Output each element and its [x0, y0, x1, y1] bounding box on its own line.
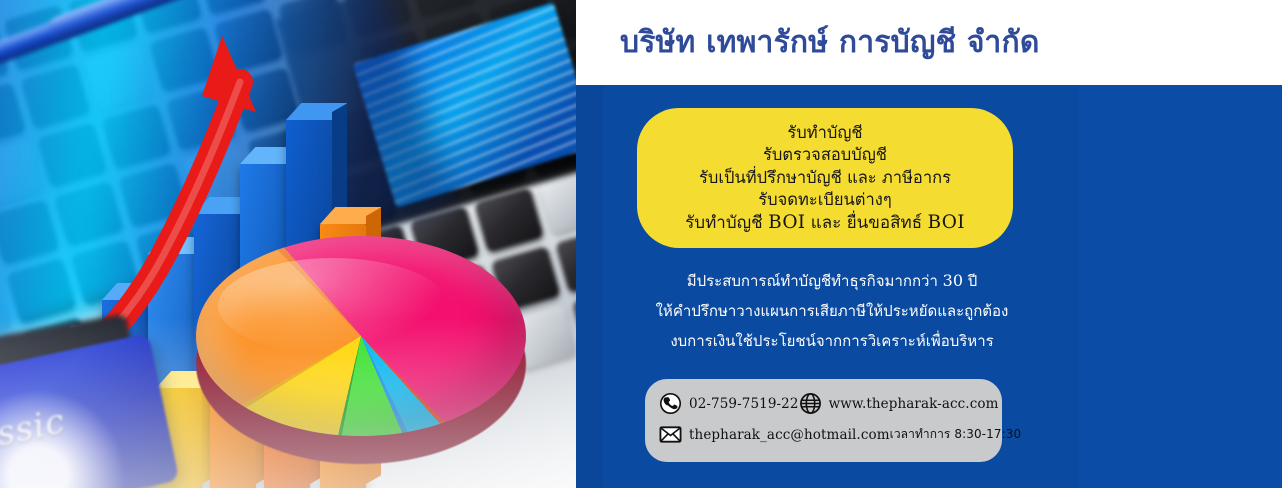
- phone-icon: [659, 392, 682, 415]
- service-line: รับทำบัญชี: [787, 122, 862, 145]
- boi-label: BOI: [768, 212, 805, 233]
- website-contact[interactable]: www.thepharak-acc.com: [799, 392, 999, 415]
- hours-text: เวลาทำการ 8:30-17:30: [890, 425, 1022, 444]
- experience-years: 30: [943, 271, 963, 290]
- envelope-icon: [659, 423, 682, 446]
- pie-chart-3d: [196, 222, 526, 472]
- contact-info-box: 02-759-7519-22 www.thepharak-acc.com the…: [645, 379, 1002, 462]
- contact-row-bottom: thepharak_acc@hotmail.com เวลาทำการ 8:30…: [659, 419, 988, 450]
- pie-gloss: [218, 258, 448, 354]
- services-highlight-box: รับทำบัญชี รับตรวจสอบบัญชี รับเป็นที่ปรึ…: [637, 108, 1013, 248]
- boi-mid: และ ยื่นขอสิทธ์: [805, 213, 927, 233]
- phone-contact[interactable]: 02-759-7519-22: [659, 392, 799, 415]
- blue-panel-right-shade: [1078, 85, 1282, 488]
- email-address: thepharak_acc@hotmail.com: [689, 427, 890, 443]
- tagline-text: มีประสบการณ์ทำบัญชีทำธุรกิจมากกว่า: [687, 272, 943, 290]
- service-line-boi: รับทำบัญชี BOI และ ยื่นขอสิทธ์ BOI: [685, 212, 965, 235]
- hero-photo-business-charts: [0, 0, 576, 488]
- contact-row-top: 02-759-7519-22 www.thepharak-acc.com: [659, 388, 988, 419]
- service-line: รับตรวจสอบบัญชี: [763, 144, 887, 167]
- boi-label: BOI: [928, 212, 965, 233]
- tagline-text: ปี: [963, 272, 977, 290]
- boi-pre: รับทำบัญชี: [685, 213, 768, 233]
- email-contact[interactable]: thepharak_acc@hotmail.com: [659, 423, 890, 446]
- service-line: รับจดทะเบียนต่างๆ: [758, 189, 891, 212]
- tagline-analysis: งบการเงินใช้ประโยชน์จากการวิเคราะห์เพื่อ…: [637, 326, 1027, 356]
- phone-number: 02-759-7519-22: [689, 396, 799, 412]
- tagline-block: มีประสบการณ์ทำบัญชีทำธุรกิจมากกว่า 30 ปี…: [637, 266, 1027, 356]
- tagline-experience: มีประสบการณ์ทำบัญชีทำธุรกิจมากกว่า 30 ปี: [637, 266, 1027, 296]
- business-hours: เวลาทำการ 8:30-17:30: [890, 425, 1022, 444]
- website-url: www.thepharak-acc.com: [829, 396, 999, 412]
- page-title: บริษัท เทพารักษ์ การบัญชี จำกัด: [620, 19, 1040, 66]
- blue-panel-left-edge: [576, 85, 603, 488]
- service-line: รับเป็นที่ปรึกษาบัญชี และ ภาษีอากร: [699, 167, 951, 190]
- globe-icon: [799, 392, 822, 415]
- promotional-banner: บริษัท เทพารักษ์ การบัญชี จำกัด รับทำบัญ…: [0, 0, 1282, 488]
- tagline-advisory: ให้คำปรึกษาวางแผนการเสียภาษีให้ประหยัดแล…: [637, 296, 1027, 326]
- pie-surface: [196, 236, 526, 436]
